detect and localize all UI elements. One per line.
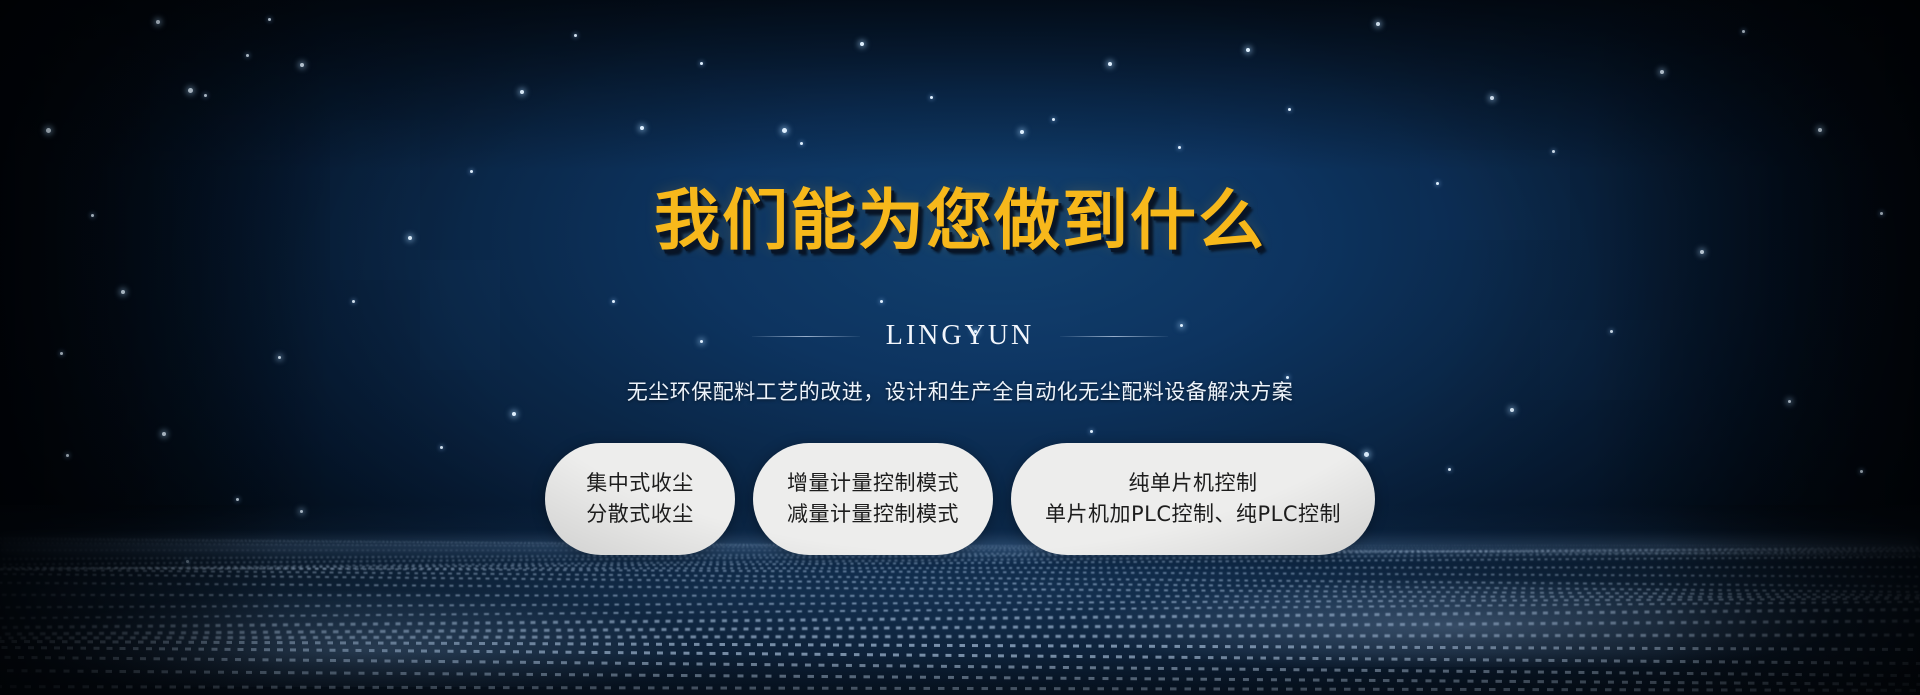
background-vignette xyxy=(0,0,1920,695)
hero-banner: 我们能为您做到什么 LINGYUN 无尘环保配料工艺的改进，设计和生产全自动化无… xyxy=(0,0,1920,695)
